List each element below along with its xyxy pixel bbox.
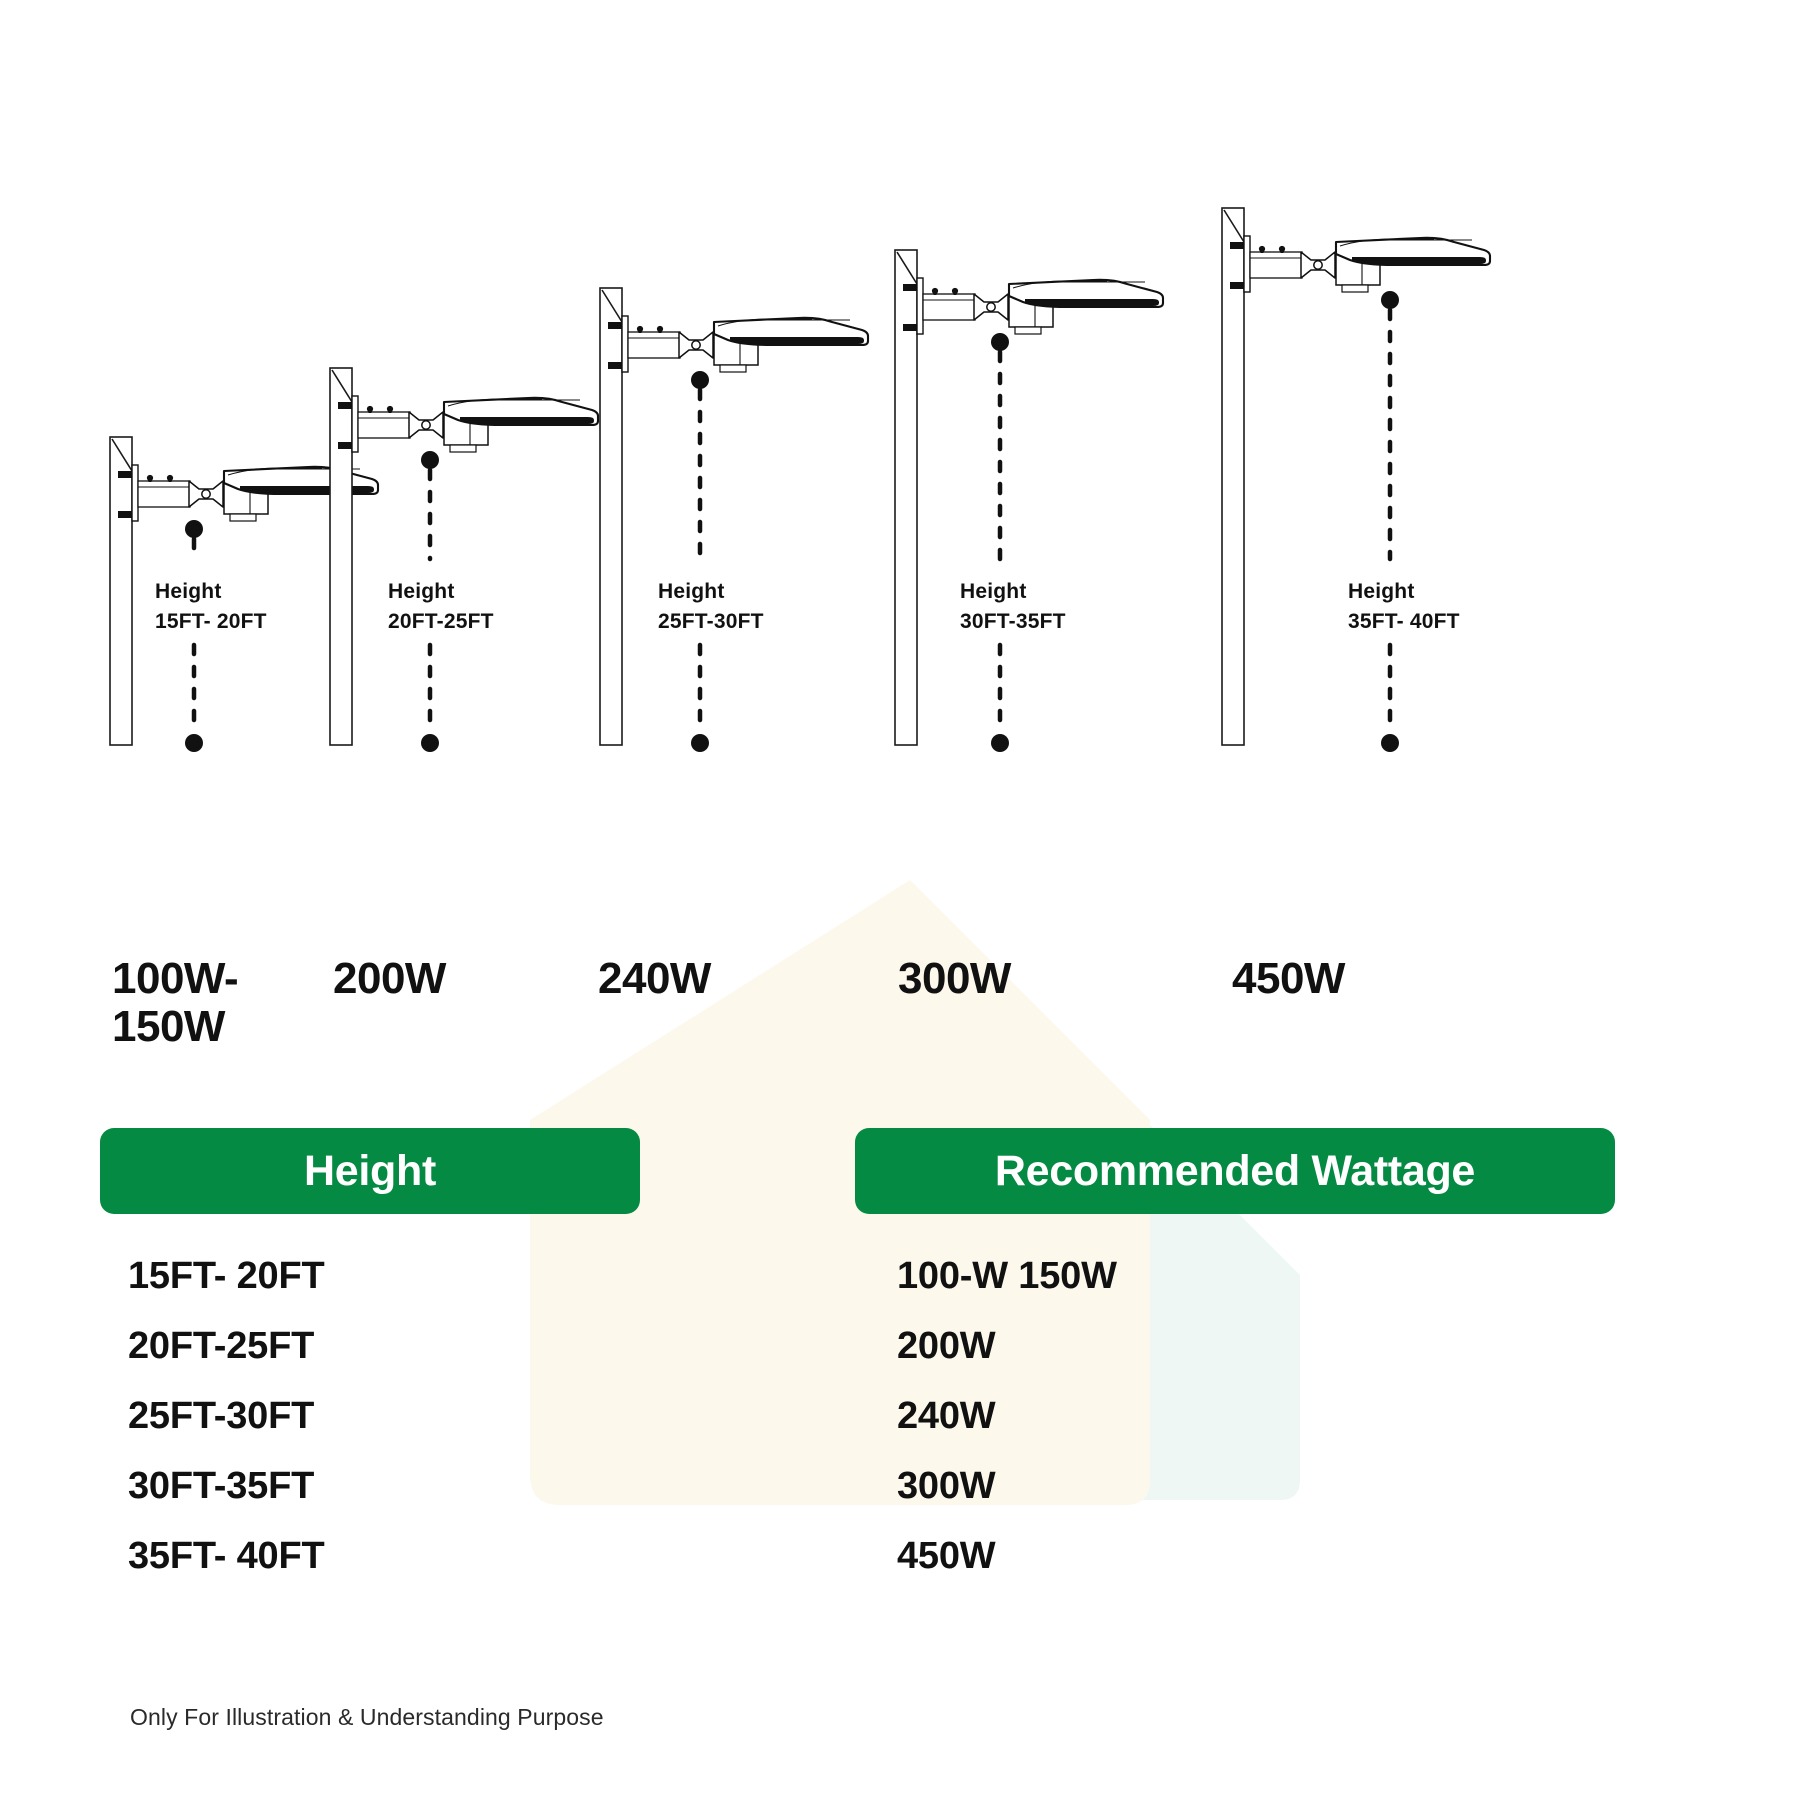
infographic-page: Height15FT- 20FTHeight20FT-25FTHeight25F… [0, 0, 1800, 1800]
footnote: Only For Illustration & Understanding Pu… [130, 1704, 604, 1731]
table-cell-height: 20FT-25FT [128, 1325, 314, 1368]
table-cell-wattage: 450W [897, 1535, 995, 1578]
table-cell-wattage: 300W [897, 1465, 995, 1508]
table-cell-height: 15FT- 20FT [128, 1255, 325, 1298]
table-header-height-label: Height [304, 1147, 436, 1196]
table-cell-wattage: 240W [897, 1395, 995, 1438]
comparison-table: Height Recommended Wattage 15FT- 20FT100… [0, 0, 1800, 1800]
table-cell-wattage: 100-W 150W [897, 1255, 1117, 1298]
table-cell-height: 35FT- 40FT [128, 1535, 325, 1578]
table-cell-height: 30FT-35FT [128, 1465, 314, 1508]
table-cell-height: 25FT-30FT [128, 1395, 314, 1438]
table-header-height: Height [100, 1128, 640, 1214]
table-cell-wattage: 200W [897, 1325, 995, 1368]
table-header-wattage: Recommended Wattage [855, 1128, 1615, 1214]
table-header-wattage-label: Recommended Wattage [995, 1147, 1475, 1196]
